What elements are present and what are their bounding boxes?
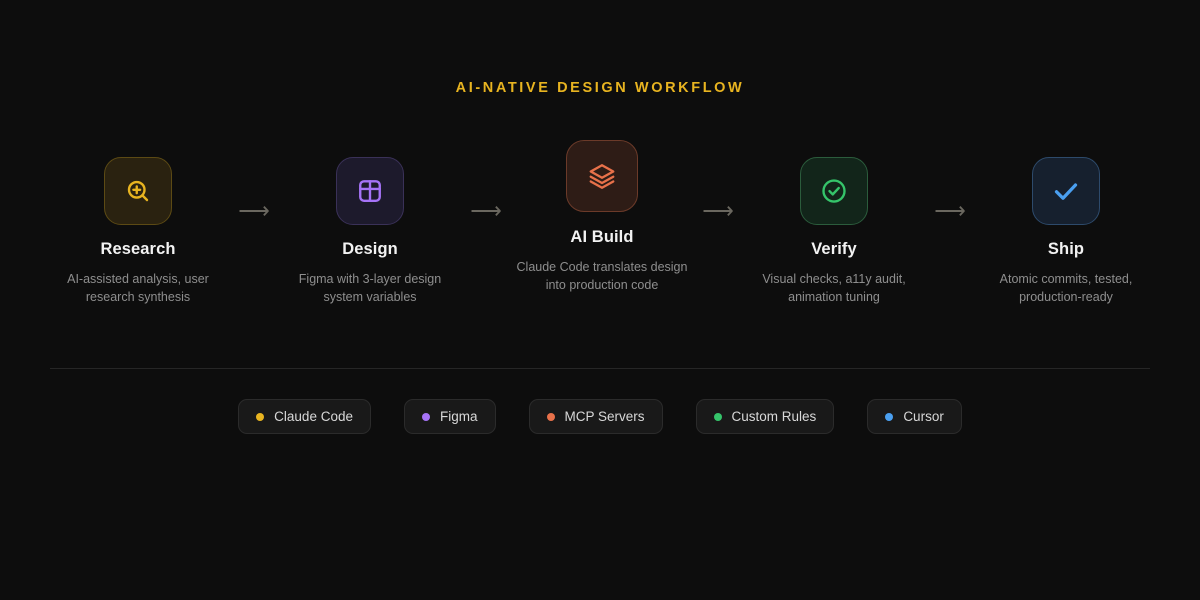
toolchain-chip-mcp-servers[interactable]: MCP Servers bbox=[529, 399, 663, 434]
step-arrow-4: ⟶ bbox=[922, 140, 978, 330]
step-description: Figma with 3-layer design system variabl… bbox=[284, 270, 456, 306]
chip-label: Cursor bbox=[903, 409, 944, 424]
toolchain-chip-claude-code[interactable]: Claude Code bbox=[238, 399, 371, 434]
step-description: Visual checks, a11y audit, animation tun… bbox=[748, 270, 920, 306]
step-name: AI Build bbox=[570, 228, 633, 247]
arrow-right-icon: ⟶ bbox=[934, 198, 966, 224]
step-icon-tile bbox=[800, 157, 868, 225]
workflow-step-verify[interactable]: VerifyVisual checks, a11y audit, animati… bbox=[746, 140, 922, 306]
step-name: Research bbox=[100, 240, 175, 259]
chip-label: Custom Rules bbox=[732, 409, 817, 424]
status-dot-icon bbox=[885, 413, 893, 421]
workflow-steps: ResearchAI-assisted analysis, user resea… bbox=[50, 140, 1150, 330]
step-arrow-3: ⟶ bbox=[690, 140, 746, 330]
chip-label: Claude Code bbox=[274, 409, 353, 424]
arrow-right-icon: ⟶ bbox=[702, 198, 734, 224]
step-arrow-2: ⟶ bbox=[458, 140, 514, 330]
page-title: AI-NATIVE DESIGN WORKFLOW bbox=[0, 80, 1200, 96]
status-dot-icon bbox=[256, 413, 264, 421]
step-name: Design bbox=[342, 240, 398, 259]
arrow-right-icon: ⟶ bbox=[470, 198, 502, 224]
step-description: AI-assisted analysis, user research synt… bbox=[52, 270, 224, 306]
toolchain-chip-cursor[interactable]: Cursor bbox=[867, 399, 962, 434]
check-circle-icon bbox=[819, 176, 849, 206]
workflow-step-ship[interactable]: ShipAtomic commits, tested, production-r… bbox=[978, 140, 1154, 306]
layers-stack-icon bbox=[587, 161, 617, 191]
toolchain-chip-figma[interactable]: Figma bbox=[404, 399, 496, 434]
step-name: Ship bbox=[1048, 240, 1084, 259]
workflow-page: AI-NATIVE DESIGN WORKFLOW ResearchAI-ass… bbox=[0, 0, 1200, 600]
workflow-step-research[interactable]: ResearchAI-assisted analysis, user resea… bbox=[50, 140, 226, 306]
toolchain-chip-custom-rules[interactable]: Custom Rules bbox=[696, 399, 835, 434]
status-dot-icon bbox=[714, 413, 722, 421]
step-description: Atomic commits, tested, production-ready bbox=[980, 270, 1152, 306]
check-icon bbox=[1051, 176, 1081, 206]
search-plus-icon bbox=[123, 176, 153, 206]
workflow-step-ai-build[interactable]: AI BuildClaude Code translates design in… bbox=[514, 140, 690, 294]
step-description: Claude Code translates design into produ… bbox=[516, 258, 688, 294]
step-icon-tile bbox=[104, 157, 172, 225]
workflow-step-design[interactable]: DesignFigma with 3-layer design system v… bbox=[282, 140, 458, 306]
section-divider bbox=[50, 368, 1150, 369]
step-icon-tile bbox=[566, 140, 638, 212]
step-arrow-1: ⟶ bbox=[226, 140, 282, 330]
arrow-right-icon: ⟶ bbox=[238, 198, 270, 224]
status-dot-icon bbox=[547, 413, 555, 421]
step-icon-tile bbox=[1032, 157, 1100, 225]
toolchain-chips: Claude CodeFigmaMCP ServersCustom RulesC… bbox=[0, 399, 1200, 434]
step-icon-tile bbox=[336, 157, 404, 225]
chip-label: Figma bbox=[440, 409, 478, 424]
step-name: Verify bbox=[811, 240, 857, 259]
chip-label: MCP Servers bbox=[565, 409, 645, 424]
status-dot-icon bbox=[422, 413, 430, 421]
layout-grid-icon bbox=[355, 176, 385, 206]
